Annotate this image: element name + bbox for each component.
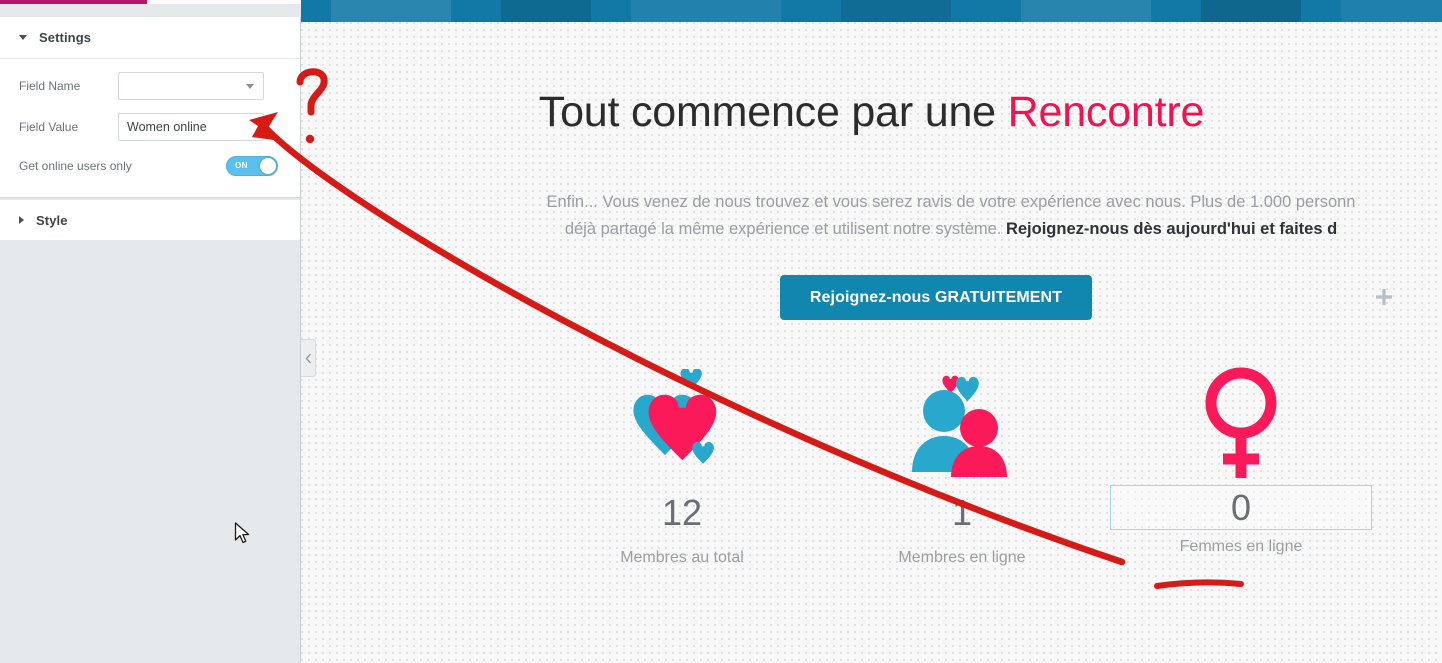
counter-value: 1 xyxy=(812,485,1112,541)
app-root: Settings Field Name Field Value Women on… xyxy=(0,0,1442,663)
headline-accent: Rencontre xyxy=(1008,88,1205,136)
page-headline: Tout commence par une Rencontre xyxy=(301,88,1442,137)
chevron-left-icon xyxy=(305,353,312,364)
hearts-icon xyxy=(532,360,832,485)
online-only-toggle[interactable]: ON xyxy=(226,156,278,176)
lede-line-2-bold: Rejoignez-nous dès aujourd'hui et faites… xyxy=(1006,220,1337,238)
control-row-online-only: Get online users only ON xyxy=(0,147,300,185)
counter-women-online[interactable]: 0 Femmes en ligne xyxy=(1091,360,1391,556)
editor-panel: Settings Field Name Field Value Women on… xyxy=(0,0,301,663)
section-header-style[interactable]: Style xyxy=(0,199,300,241)
section-header-settings[interactable]: Settings xyxy=(0,17,300,59)
hero-photo-tile xyxy=(1341,0,1442,22)
label-field-name: Field Name xyxy=(0,79,118,93)
plus-icon[interactable] xyxy=(1371,284,1397,310)
cta-join-button[interactable]: Rejoignez-nous GRATUITEMENT xyxy=(780,275,1092,320)
field-value-field: Women online xyxy=(118,113,300,141)
lede-line-2-plain: déjà partagé la même expérience et utili… xyxy=(565,220,1006,238)
section-title-settings: Settings xyxy=(39,30,91,45)
hero-photo-tile xyxy=(841,0,951,22)
headline-lead: Tout commence par une xyxy=(539,88,1008,136)
caret-down-icon xyxy=(19,35,27,40)
venus-icon xyxy=(1091,360,1391,485)
counter-online-members[interactable]: 1 Membres en ligne xyxy=(812,360,1112,567)
lede-line-1: Enfin... Vous venez de nous trouvez et v… xyxy=(547,193,1356,211)
counter-value: 12 xyxy=(532,485,832,541)
hero-photo-band xyxy=(301,0,1442,22)
hero-photo-tile xyxy=(501,0,591,22)
toggle-knob xyxy=(260,158,276,174)
online-only-field: ON xyxy=(140,156,300,176)
counter-value-selection-box[interactable]: 0 xyxy=(1110,485,1372,530)
page-lede: Enfin... Vous venez de nous trouvez et v… xyxy=(441,189,1442,243)
chevron-down-icon xyxy=(246,84,254,89)
field-name-select[interactable] xyxy=(118,72,264,100)
field-name-field xyxy=(118,72,300,100)
counter-value: 0 xyxy=(1231,490,1251,526)
label-online-only: Get online users only xyxy=(0,159,140,173)
control-row-field-value: Field Value Women online xyxy=(0,108,300,146)
lede-line-2: déjà partagé la même expérience et utili… xyxy=(441,216,1442,243)
control-row-field-name: Field Name xyxy=(0,67,300,105)
panel-collapse-handle[interactable] xyxy=(301,339,316,377)
caret-right-icon xyxy=(19,216,24,224)
couple-icon xyxy=(812,360,1112,485)
toggle-state-label: ON xyxy=(235,161,248,170)
panel-empty-area xyxy=(0,241,300,663)
preview-canvas: Tout commence par une Rencontre Enfin...… xyxy=(301,0,1442,663)
counter-total-members[interactable]: 12 Membres au total xyxy=(532,360,832,567)
counter-label: Femmes en ligne xyxy=(1091,538,1391,556)
field-value-input[interactable]: Women online xyxy=(118,113,264,141)
hero-photo-tile xyxy=(631,0,781,22)
hero-photo-tile xyxy=(1201,0,1301,22)
counter-label: Membres en ligne xyxy=(812,549,1112,567)
panel-top-gap xyxy=(0,4,301,17)
hero-photo-tile xyxy=(1021,0,1151,22)
hero-photo-tile xyxy=(331,0,451,22)
field-name-value xyxy=(119,73,263,79)
label-field-value: Field Value xyxy=(0,120,118,134)
section-body-settings: Field Name Field Value Women online Get … xyxy=(0,59,300,198)
section-title-style: Style xyxy=(36,213,68,228)
arrow-cursor xyxy=(234,522,252,546)
counter-label: Membres au total xyxy=(532,549,832,567)
